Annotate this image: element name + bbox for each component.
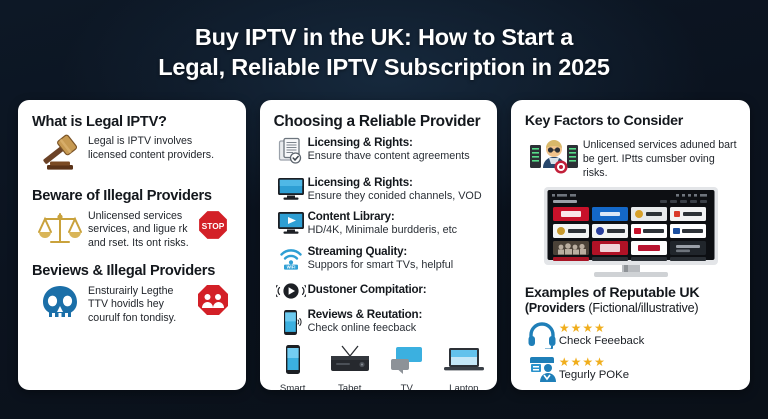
examples-disclaimer: (Fictional/illustrative) [588,301,698,315]
person-server-icon [525,136,583,176]
item-label: Content Library: [308,210,485,224]
device-tv: TV [388,344,426,390]
provider-name: Tegurly POKe [559,369,738,381]
item-label: Dustoner Compitatior: [308,283,485,297]
wifi-icon: WIFI [274,245,308,270]
device-smart: Smart [274,344,312,390]
examples-heading-line-2: (Providers (Fictional/illustrative) [525,301,738,315]
device-label: Laptop [443,383,485,390]
provider-item-content-library: Content Library: HD/4K, Minimale burdder… [274,210,485,238]
scales-of-justice-icon [32,208,88,250]
key-factors-body: Unlicensed services aduned bart be gert.… [583,136,738,180]
provider-name: Check Feeeback [559,335,738,347]
smartphone-icon [274,308,308,337]
item-label: Licensing & Rights: [308,176,485,190]
svg-text:WIFI: WIFI [286,265,295,270]
key-factors-body-row: Unlicensed services aduned bart be gert.… [525,136,738,180]
item-desc: Check online feecback [308,322,485,335]
card-key-factors: Key Factors to Consider [511,100,750,390]
left-section-2-body: Unlicensed services services, and ligue … [88,208,192,251]
item-label: Licensing & Rights: [308,136,485,150]
device-laptop: Laptop [443,344,485,390]
examples-providers-word: (Providers [525,301,585,315]
provider-row-2[interactable]: ★★★★ Tegurly POKe [525,355,738,383]
examples-heading-line-1: Examples of Reputable UK [525,285,738,301]
skull-icon [32,283,88,323]
shield-person-icon [525,355,559,383]
title-line-2: Legal, Reliable IPTV Subscription in 202… [54,52,714,82]
provider-item-reviews-reputation: Reviews & Reutation: Check online feecba… [274,308,485,337]
left-section-3-body: Ensturairly Legthe TTV hovidls hey couru… [88,283,192,326]
device-label: TV [388,383,426,390]
left-section-2: Beware of Illegal Providers [32,188,234,251]
left-section-1: What is Legal IPTV? [32,114,234,177]
card-what-is-legal-iptv: What is Legal IPTV? [18,100,246,390]
gavel-icon [32,133,88,177]
television-icon [274,176,308,201]
infographic-poster: Buy IPTV in the UK: How to Start a Legal… [0,0,768,419]
item-desc: Suppors for smart TVs, helpful [308,259,485,272]
provider-item-licensing-rights-1: Licensing & Rights: Ensure thave content… [274,136,485,165]
card-choosing-reliable-provider: Choosing a Reliable Provider [260,100,497,390]
provider-item-streaming-quality: WIFI Streaming Quality: Suppors for smar… [274,245,485,273]
left-section-3: Beviews & Illegal Providers [32,263,234,326]
play-button-icon [274,280,308,301]
provider-rating-stars: ★★★★ [559,356,738,368]
no-people-icon [192,283,234,317]
examples-heading: Examples of Reputable UK (Providers (Fic… [525,285,738,315]
headset-icon [525,321,559,349]
stop-sign-icon: STOP [192,208,234,242]
item-label: Reviews & Reutation: [308,308,485,322]
left-section-1-heading: What is Legal IPTV? [32,114,234,131]
provider-rating-stars: ★★★★ [559,322,738,334]
left-section-1-body: Legal is IPTV involves licensed content … [88,133,234,163]
left-section-3-heading: Beviews & Illegal Providers [32,263,234,280]
tv-play-icon [274,210,308,235]
item-desc: Ensure they conided channels, VOD [308,190,485,203]
set-top-box-icon [329,344,371,376]
provider-item-customer-compatibility: Dustoner Compitatior: [274,280,485,301]
smartphone-device-icon [283,344,303,376]
device-tabet: Tabet [329,344,371,390]
device-label: Smart [274,383,312,390]
left-section-2-heading: Beware of Illegal Providers [32,188,234,205]
item-desc: HD/4K, Minimale burdderis, etc [308,224,485,237]
columns-container: What is Legal IPTV? [18,100,750,390]
page-title: Buy IPTV in the UK: How to Start a Legal… [0,22,768,82]
speech-bubble-icon [390,344,424,376]
svg-text:STOP: STOP [201,221,224,231]
device-label: Tabet [329,383,371,390]
item-label: Streaming Quality: [308,245,485,259]
provider-row-1[interactable]: ★★★★ Check Feeeback [525,321,738,349]
smart-tv-app-grid [525,187,738,280]
title-line-1: Buy IPTV in the UK: How to Start a [54,22,714,52]
item-desc: Ensure thave content agreements [308,150,485,163]
right-heading: Key Factors to Consider [525,113,738,129]
provider-item-licensing-rights-2: Licensing & Rights: Ensure they conided … [274,176,485,204]
device-strip: Smart Tabet [274,344,485,390]
middle-heading: Choosing a Reliable Provider [274,113,485,131]
document-check-icon [274,136,308,165]
laptop-icon [443,344,485,376]
